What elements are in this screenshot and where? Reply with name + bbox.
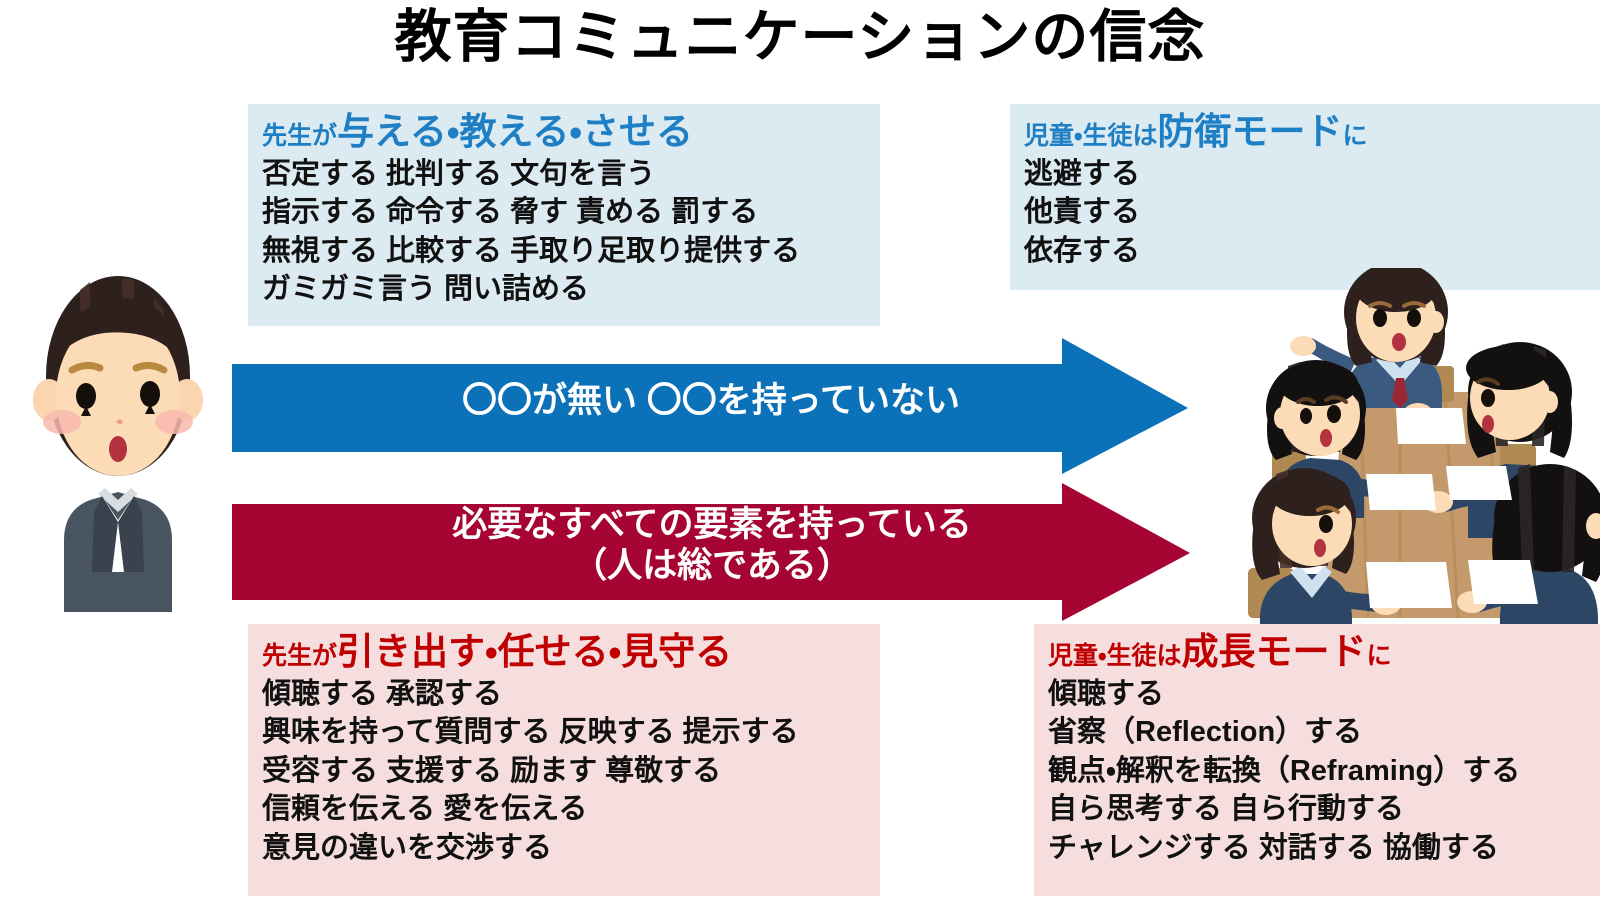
- box-teacher-positive-heading: 先生が引き出す・任せる・見守る: [262, 630, 870, 674]
- box-line: 興味を持って質問する 反映する 提示する: [262, 713, 870, 752]
- heading-emphasis: 防衛モード: [1158, 111, 1343, 152]
- box-line: ガミガミ言う 問い詰める: [262, 270, 870, 309]
- students-illustration: [1200, 268, 1600, 624]
- heading-suffix: に: [1367, 642, 1392, 670]
- heading-prefix: 先生が: [262, 122, 337, 150]
- box-line: 自ら思考する 自ら行動する: [1048, 790, 1590, 829]
- box-line: 傾聴する 承認する: [262, 675, 870, 714]
- page-title: 教育コミュニケーションの信念: [0, 2, 1600, 73]
- arrow-blue: 〇〇が無い 〇〇を持っていない: [232, 336, 1190, 476]
- box-line: 否定する 批判する 文句を言う: [262, 155, 870, 194]
- slide-canvas: 教育コミュニケーションの信念 先生が与える・教える・させる 否定する 批判する …: [0, 0, 1600, 900]
- box-student-negative-heading: 児童・生徒は防衛モードに: [1024, 110, 1590, 154]
- heading-suffix: に: [1343, 122, 1368, 150]
- teacher-woman-figure: [28, 272, 208, 612]
- box-line: 信頼を伝える 愛を伝える: [262, 790, 870, 829]
- box-teacher-negative-heading: 先生が与える・教える・させる: [262, 110, 870, 154]
- arrow-red: 必要なすべての要素を持っている （人は総である）: [232, 482, 1192, 622]
- heading-prefix: 児童・生徒は: [1048, 642, 1182, 670]
- arrow-red-shape: [232, 482, 1192, 622]
- box-line: 無視する 比較する 手取り足取り提供する: [262, 232, 870, 271]
- box-student-negative: 児童・生徒は防衛モードに 逃避する 他責する 依存する: [1010, 104, 1600, 290]
- teacher-illustration: [28, 272, 208, 612]
- heading-emphasis: 与える・教える・させる: [337, 111, 693, 152]
- box-line: 依存する: [1024, 232, 1590, 271]
- box-line: 傾聴する: [1048, 675, 1590, 714]
- box-line: 指示する 命令する 脅す 責める 罰する: [262, 193, 870, 232]
- box-line: 他責する: [1024, 193, 1590, 232]
- heading-prefix: 児童・生徒は: [1024, 122, 1158, 150]
- box-line: チャレンジする 対話する 協働する: [1048, 829, 1590, 868]
- box-teacher-positive: 先生が引き出す・任せる・見守る 傾聴する 承認する 興味を持って質問する 反映す…: [248, 624, 880, 896]
- box-line: 省察（Reflection）する: [1048, 713, 1590, 752]
- arrow-blue-shape: [232, 336, 1190, 476]
- box-line: 観点・解釈を転換（Reframing）する: [1048, 752, 1590, 791]
- box-line: 受容する 支援する 励ます 尊敬する: [262, 752, 870, 791]
- box-student-positive: 児童・生徒は成長モードに 傾聴する 省察（Reflection）する 観点・解釈…: [1034, 624, 1600, 896]
- heading-emphasis: 引き出す・任せる・見守る: [337, 631, 732, 672]
- heading-emphasis: 成長モード: [1182, 631, 1367, 672]
- heading-prefix: 先生が: [262, 642, 337, 670]
- students-group-discussion: [1200, 268, 1600, 624]
- box-line: 意見の違いを交渉する: [262, 829, 870, 868]
- box-student-positive-heading: 児童・生徒は成長モードに: [1048, 630, 1590, 674]
- box-line: 逃避する: [1024, 155, 1590, 194]
- box-teacher-negative: 先生が与える・教える・させる 否定する 批判する 文句を言う 指示する 命令する…: [248, 104, 880, 326]
